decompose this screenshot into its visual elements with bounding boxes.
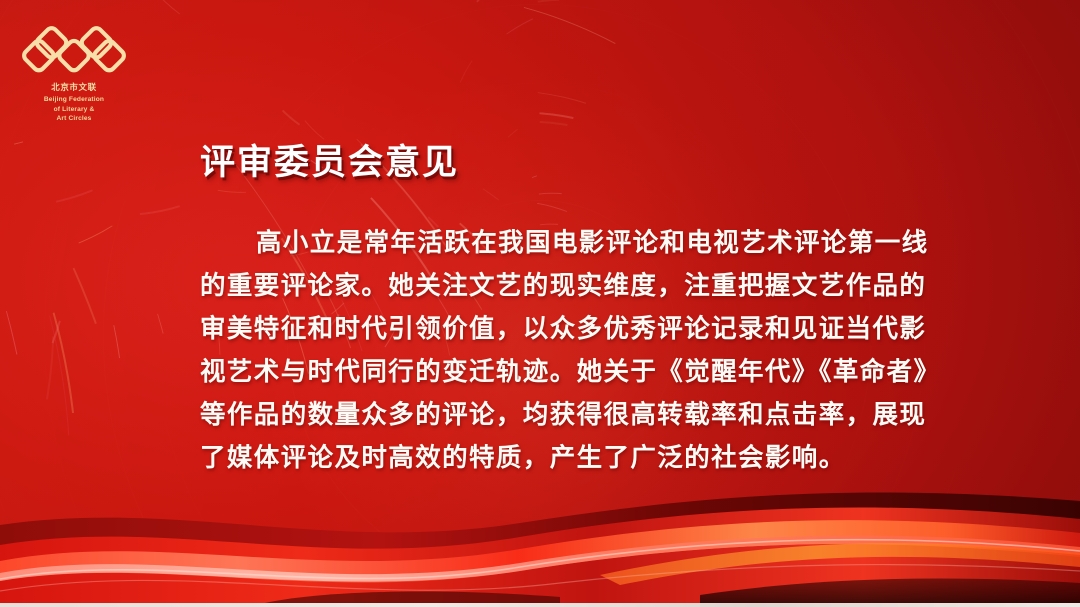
body-line: 视艺术与时代同行的变迁轨迹。她关于《觉醒年代》《革命者》 — [200, 351, 910, 394]
body-line: 审美特征和时代引领价值，以众多优秀评论记录和见证当代影 — [200, 308, 910, 351]
presentation-slide: 北京市文联 Beijing Federation of Literary & A… — [0, 0, 1080, 607]
body-line: 等作品的数量众多的评论，均获得很高转载率和点击率，展现 — [200, 394, 910, 437]
logo-chinese-name: 北京市文联 — [22, 82, 126, 93]
slide-title: 评审委员会意见 — [200, 134, 459, 185]
logo-english-name: Beijing Federation of Literary & Art Cir… — [22, 95, 126, 125]
logo-english-line-1: Beijing Federation — [22, 95, 126, 105]
logo-english-line-3: Art Circles — [22, 114, 126, 124]
body-line: 了媒体评论及时高效的特质，产生了广泛的社会影响。 — [200, 437, 910, 480]
body-line: 的重要评论家。她关注文艺的现实维度，注重把握文艺作品的 — [200, 265, 910, 308]
logo-english-line-2: of Literary & — [22, 105, 126, 115]
footer-strip — [0, 603, 1080, 607]
red-silk-ribbon-waves — [0, 479, 1080, 607]
body-line: 高小立是常年活跃在我国电影评论和电视艺术评论第一线 — [200, 222, 910, 265]
beijing-federation-knot-emblem — [22, 24, 126, 76]
organization-logo: 北京市文联 Beijing Federation of Literary & A… — [22, 24, 126, 124]
slide-body-text: 高小立是常年活跃在我国电影评论和电视艺术评论第一线的重要评论家。她关注文艺的现实… — [200, 222, 910, 480]
